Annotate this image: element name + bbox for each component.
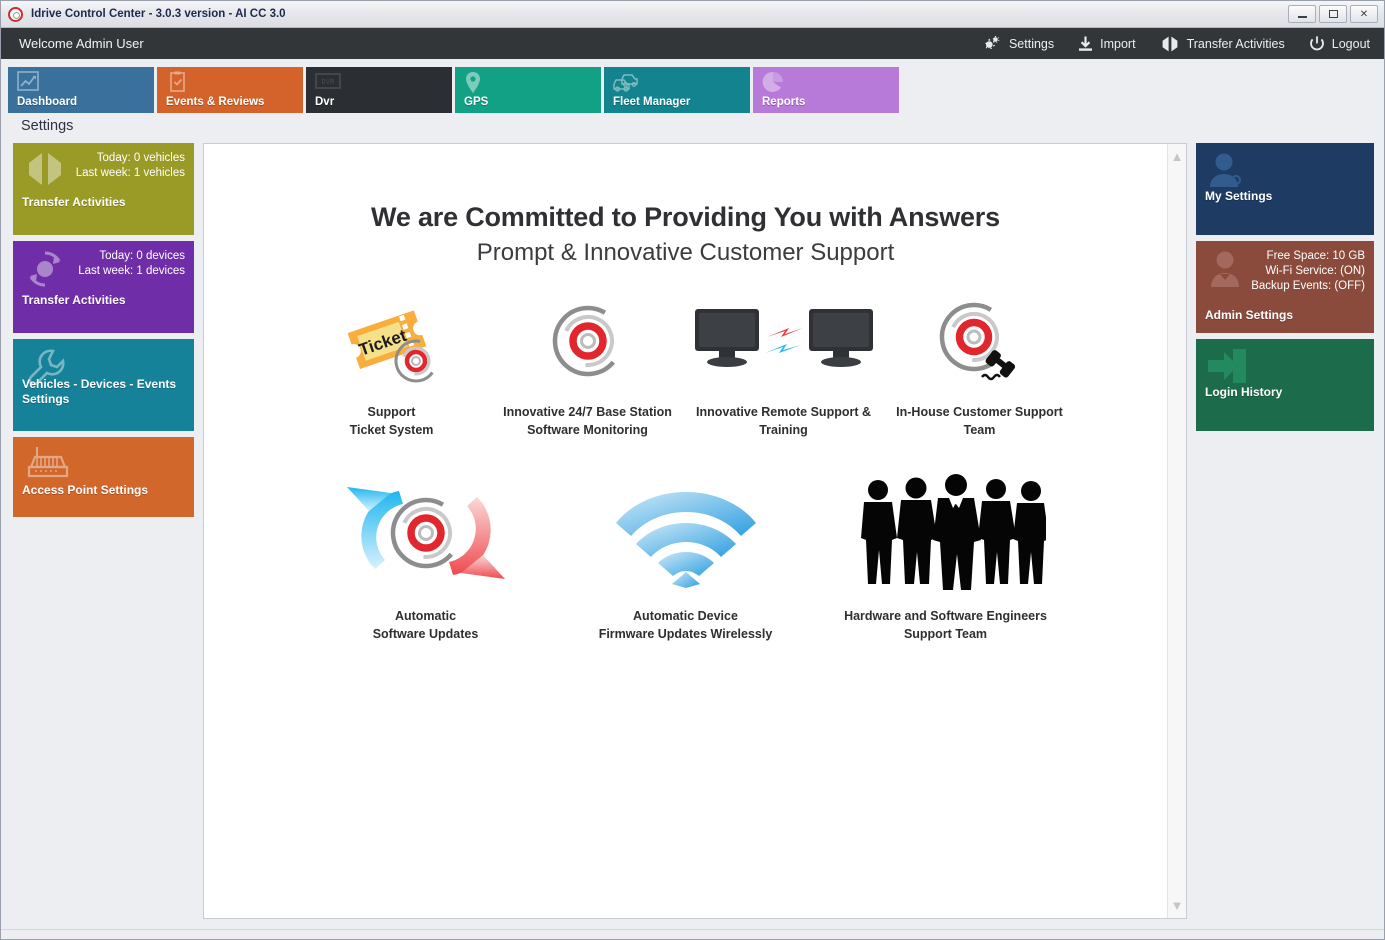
nav-tab-reports[interactable]: Reports [753, 67, 899, 113]
left-sidebar: Today: 0 vehicles Last week: 1 vehicles … [13, 143, 194, 919]
feature-caption: Hardware and Software Engineers Support … [844, 607, 1047, 643]
support-info-page: We are Committed to Providing You with A… [204, 144, 1167, 918]
app-logo-icon [8, 7, 23, 22]
maximize-button[interactable] [1319, 5, 1347, 23]
header-settings-button[interactable]: Settings [982, 35, 1054, 52]
transfer-arrows-icon [1160, 36, 1180, 52]
logo-phone-icon [932, 293, 1028, 389]
nav-tab-gps-label: GPS [464, 96, 488, 108]
tile-stat-line: Last week: 1 devices [22, 264, 185, 279]
window-title: Idrive Control Center - 3.0.3 version - … [31, 8, 286, 20]
feature-base-station-monitoring: Innovative 24/7 Base Station Software Mo… [490, 293, 686, 439]
content-vertical-scrollbar[interactable]: ▲ ▼ [1167, 144, 1186, 918]
sidebar-tile-label: Login History [1205, 385, 1365, 400]
nav-tab-dashboard-label: Dashboard [17, 96, 77, 108]
tile-stats: Today: 0 vehicles Last week: 1 vehicles [22, 151, 185, 181]
feature-caption: Innovative Remote Support & Training [696, 403, 871, 439]
base-station-logo-icon [545, 293, 631, 389]
pie-chart-icon [762, 71, 784, 98]
nav-tab-fleet-manager[interactable]: Fleet Manager [604, 67, 750, 113]
sidebar-tile-label: Admin Settings [1205, 308, 1365, 323]
nav-tab-fleet-manager-label: Fleet Manager [613, 96, 690, 108]
tile-stat-line: Wi-Fi Service: (ON) [1205, 264, 1365, 279]
feature-support-ticket-system: Ticket Suppor [294, 293, 490, 439]
nav-tab-events-reviews[interactable]: Events & Reviews [157, 67, 303, 113]
gears-icon [982, 35, 1002, 52]
header-logout-button[interactable]: Logout [1309, 36, 1370, 52]
title-bar: Idrive Control Center - 3.0.3 version - … [1, 1, 1384, 28]
sidebar-tile-label: Vehicles - Devices - Events Settings [22, 377, 185, 407]
sidebar-tile-label: Transfer Activities [22, 195, 185, 210]
close-button[interactable]: ✕ [1350, 5, 1378, 23]
feature-hardware-software-engineers: Hardware and Software Engineers Support … [816, 473, 1076, 643]
tile-stat-line: Last week: 1 vehicles [22, 166, 185, 181]
nav-tab-dvr[interactable]: DVR Dvr [306, 67, 452, 113]
nav-tab-dashboard[interactable]: Dashboard [8, 67, 154, 113]
tile-stats: Free Space: 10 GB Wi-Fi Service: (ON) Ba… [1205, 249, 1365, 294]
welcome-message: Welcome Admin User [19, 36, 144, 51]
remote-monitors-icon [691, 293, 877, 389]
dvr-icon: DVR [315, 71, 341, 96]
status-bar [1, 929, 1384, 939]
tile-stat-line: Backup Events: (OFF) [1205, 279, 1365, 294]
header-transfer-activities-button[interactable]: Transfer Activities [1160, 36, 1285, 52]
tile-stat-line: Free Space: 10 GB [1205, 249, 1365, 264]
header-import-label: Import [1100, 37, 1135, 51]
sidebar-tile-label: My Settings [1205, 189, 1365, 204]
feature-caption: Automatic Software Updates [373, 607, 479, 643]
feature-remote-support-training: Innovative Remote Support & Training [686, 293, 882, 439]
nav-tab-gps[interactable]: GPS [455, 67, 601, 113]
header-transfer-activities-label: Transfer Activities [1187, 37, 1285, 51]
sidebar-tile-transfer-activities-vehicles[interactable]: Today: 0 vehicles Last week: 1 vehicles … [13, 143, 194, 235]
scroll-down-arrow-icon[interactable]: ▼ [1171, 899, 1184, 912]
scroll-up-arrow-icon[interactable]: ▲ [1171, 150, 1184, 163]
subheadline: Prompt & Innovative Customer Support [204, 239, 1167, 267]
sidebar-tile-label: Transfer Activities [22, 293, 185, 308]
headline: We are Committed to Providing You with A… [204, 202, 1167, 233]
chart-trend-icon [17, 71, 41, 98]
user-icon [1206, 151, 1244, 194]
feature-in-house-support-team: In-House Customer Support Team [882, 293, 1078, 439]
main-navigation: Dashboard Events & Reviews DVR Dvr GPS [1, 59, 1384, 113]
download-icon [1078, 36, 1093, 52]
sidebar-tile-admin-settings[interactable]: Free Space: 10 GB Wi-Fi Service: (ON) Ba… [1196, 241, 1374, 333]
support-ticket-icon: Ticket [340, 293, 444, 389]
header-logout-label: Logout [1332, 37, 1370, 51]
sidebar-tile-my-settings[interactable]: My Settings [1196, 143, 1374, 235]
nav-tab-reports-label: Reports [762, 96, 805, 108]
auto-update-logo-icon [337, 473, 515, 593]
wifi-icon [611, 473, 761, 593]
sidebar-tile-label: Access Point Settings [22, 483, 185, 498]
tile-stat-line: Today: 0 devices [22, 249, 185, 264]
tile-stats: Today: 0 devices Last week: 1 devices [22, 249, 185, 279]
svg-text:DVR: DVR [322, 78, 335, 86]
clipboard-check-icon [166, 71, 190, 98]
feature-row-2: Automatic Software Updates [204, 473, 1167, 643]
feature-caption: Innovative 24/7 Base Station Software Mo… [503, 403, 672, 439]
page-body: Today: 0 vehicles Last week: 1 vehicles … [1, 143, 1384, 929]
feature-automatic-software-updates: Automatic Software Updates [296, 473, 556, 643]
sidebar-tile-vehicles-devices-events-settings[interactable]: Vehicles - Devices - Events Settings [13, 339, 194, 431]
right-sidebar: My Settings Free Space: 10 GB Wi-Fi Serv… [1196, 143, 1374, 919]
feature-caption: Automatic Device Firmware Updates Wirele… [599, 607, 773, 643]
sidebar-tile-transfer-activities-devices[interactable]: Today: 0 devices Last week: 1 devices Tr… [13, 241, 194, 333]
header-actions: Settings Import Transf [982, 35, 1370, 52]
nav-tab-dvr-label: Dvr [315, 96, 334, 108]
main-content-area: We are Committed to Providing You with A… [203, 143, 1187, 919]
minimize-button[interactable] [1288, 5, 1316, 23]
cars-icon [613, 71, 641, 98]
content-panel: We are Committed to Providing You with A… [203, 143, 1187, 919]
nav-tab-events-reviews-label: Events & Reviews [166, 96, 264, 108]
feature-caption: In-House Customer Support Team [896, 403, 1063, 439]
feature-row-1: Ticket Suppor [204, 293, 1167, 439]
login-door-icon [1206, 347, 1248, 390]
feature-caption: Support Ticket System [350, 403, 434, 439]
app-header: Welcome Admin User Settings [1, 28, 1384, 59]
team-silhouettes-icon [846, 473, 1046, 593]
header-settings-label: Settings [1009, 37, 1054, 51]
window-controls: ✕ [1288, 5, 1380, 23]
sidebar-tile-login-history[interactable]: Login History [1196, 339, 1374, 431]
power-icon [1309, 36, 1325, 52]
page-title: Settings [1, 113, 1384, 143]
header-import-button[interactable]: Import [1078, 36, 1135, 52]
sidebar-tile-access-point-settings[interactable]: Access Point Settings [13, 437, 194, 517]
app-window: Idrive Control Center - 3.0.3 version - … [0, 0, 1385, 940]
feature-automatic-firmware-updates: Automatic Device Firmware Updates Wirele… [556, 473, 816, 643]
tile-stat-line: Today: 0 vehicles [22, 151, 185, 166]
